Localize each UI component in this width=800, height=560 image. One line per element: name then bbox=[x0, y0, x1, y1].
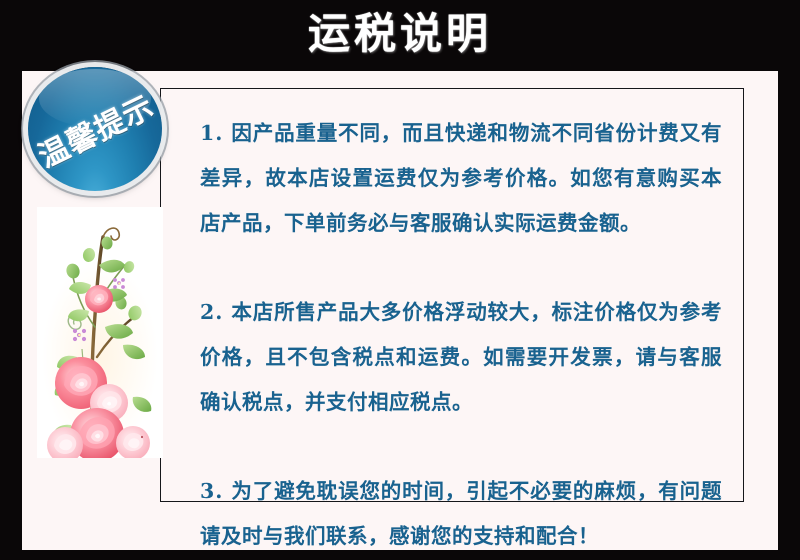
warm-tips-badge: 温馨提示 bbox=[28, 67, 162, 191]
notes-list: 1. 因产品重量不同，而且快递和物流不同省份计费又有差异，故本店设置运费仅为参考… bbox=[200, 111, 722, 559]
poster-body: 1. 因产品重量不同，而且快递和物流不同省份计费又有差异，故本店设置运费仅为参考… bbox=[22, 71, 778, 550]
note-number: 2. bbox=[200, 300, 223, 324]
rose-illustration-panel bbox=[37, 207, 163, 458]
roses-icon bbox=[37, 207, 163, 458]
shipping-tax-notice-poster: 运税说明 1. 因产品重量不同，而且快递和物流不同省份计费又有差异，故本店设置运… bbox=[0, 0, 800, 560]
note-text: 因产品重量不同，而且快递和物流不同省份计费又有差异，故本店设置运费仅为参考价格。… bbox=[200, 121, 722, 235]
note-text: 为了避免耽误您的时间，引起不必要的麻烦，有问题请及时与我们联系，感谢您的支持和配… bbox=[200, 479, 722, 548]
page-title: 运税说明 bbox=[308, 13, 492, 55]
list-item: 3. 为了避免耽误您的时间，引起不必要的麻烦，有问题请及时与我们联系，感谢您的支… bbox=[200, 469, 722, 559]
warm-tips-badge-label: 温馨提示 bbox=[30, 82, 161, 176]
note-number: 3. bbox=[200, 479, 223, 503]
note-text: 本店所售产品大多价格浮动较大，标注价格仅为参考价格，且不包含税点和运费。如需要开… bbox=[200, 300, 722, 414]
note-number: 1. bbox=[200, 121, 223, 145]
list-item: 2. 本店所售产品大多价格浮动较大，标注价格仅为参考价格，且不包含税点和运费。如… bbox=[200, 290, 722, 425]
list-item: 1. 因产品重量不同，而且快递和物流不同省份计费又有差异，故本店设置运费仅为参考… bbox=[200, 111, 722, 246]
title-band: 运税说明 bbox=[0, 0, 800, 71]
